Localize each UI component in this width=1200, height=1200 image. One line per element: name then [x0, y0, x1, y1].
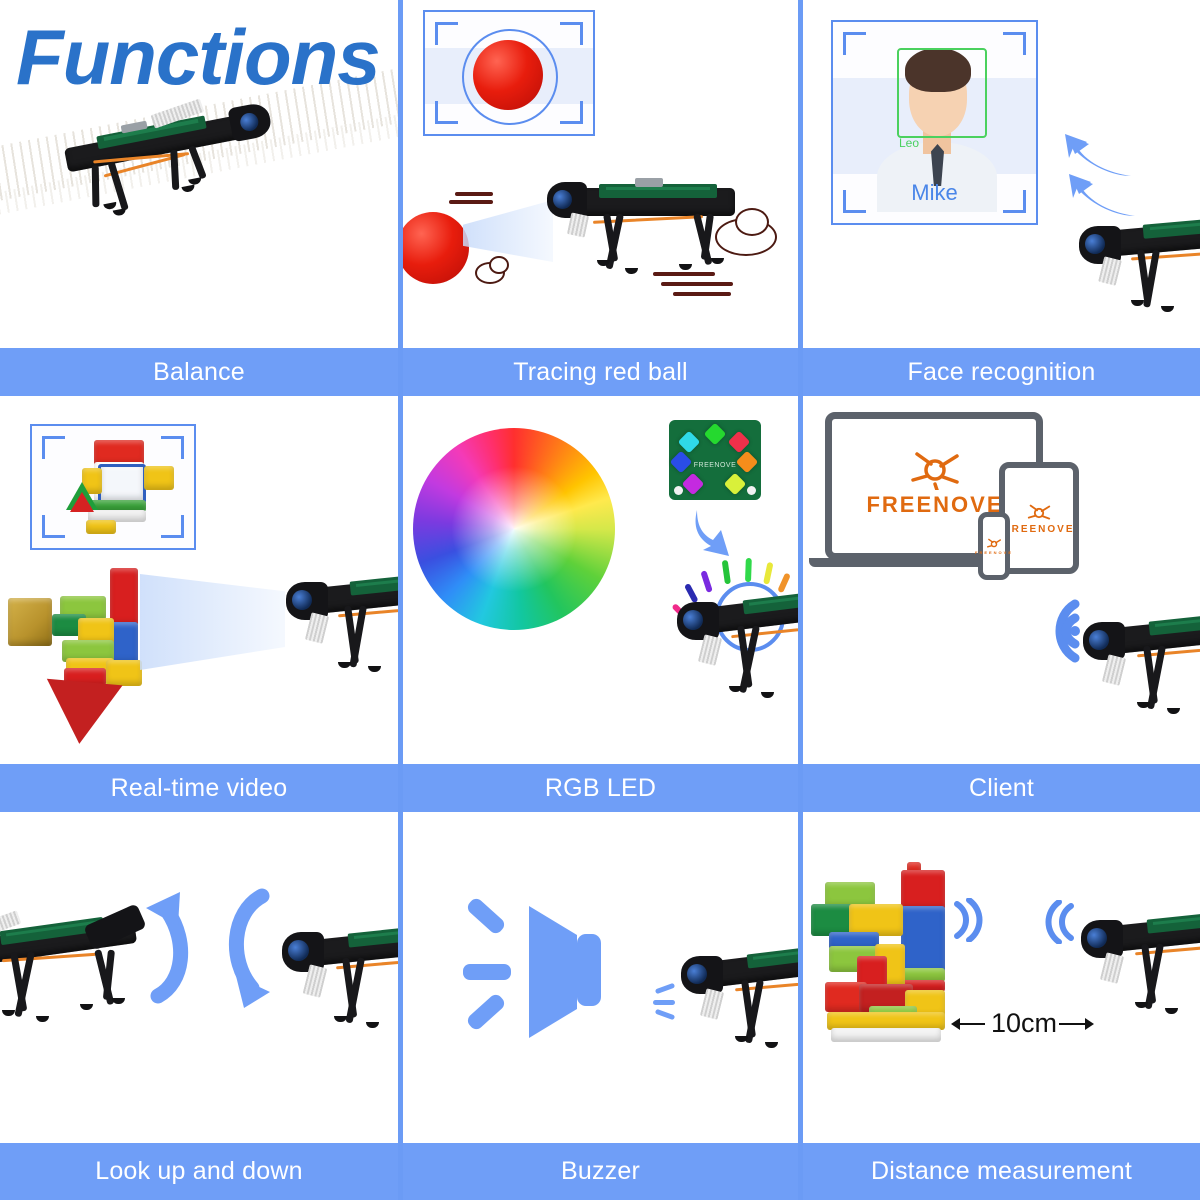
robot-leg [188, 145, 207, 179]
caption-label: Buzzer [561, 1159, 640, 1184]
led-red [728, 431, 751, 454]
robot-camera-eye [687, 964, 707, 984]
brick [901, 906, 945, 974]
frame-bracket-tl [435, 22, 458, 45]
tablet-brand-logo: FREENOVE [1007, 498, 1071, 540]
caption-face-recognition: Face recognition [803, 348, 1200, 396]
phone-brand-text: FREENOVE [975, 550, 1013, 555]
frame-bracket-br [560, 101, 583, 124]
board-mount-hole [747, 486, 756, 495]
freenove-mark-icon [986, 538, 1002, 550]
caption-label: Client [969, 776, 1034, 801]
tablet-brand-text: FREENOVE [1004, 524, 1075, 535]
brick-window [98, 464, 146, 504]
red-ball [403, 212, 469, 284]
robot-foot [2, 1010, 15, 1016]
robot-foot [1161, 306, 1174, 312]
robot-foot [113, 208, 127, 216]
face-detection-box [897, 48, 987, 138]
grid-divider-vertical [398, 0, 403, 1200]
robot-foot [334, 1016, 347, 1022]
robot-camera-eye [553, 190, 572, 209]
caption-balance: Balance [0, 348, 398, 396]
video-view-frame [30, 424, 196, 550]
sound-wave-line [463, 964, 511, 980]
brick [144, 466, 174, 490]
robot-dog [268, 572, 398, 697]
robot-foot [761, 692, 774, 698]
brick [110, 568, 138, 626]
robot-foot [80, 1004, 93, 1010]
board-mount-hole [674, 486, 683, 495]
grid-divider-vertical [798, 0, 803, 1200]
caption-distance-measurement: Distance measurement [803, 1143, 1200, 1200]
cell-buzzer [403, 816, 798, 1143]
distance-label: 10cm [991, 1008, 1057, 1039]
robot-foot [181, 185, 195, 193]
camera-view-frame [423, 10, 595, 136]
detected-name-label: Leo [899, 136, 919, 150]
sound-wave-line [465, 992, 507, 1032]
robot-camera-eye [1087, 928, 1107, 948]
robot-foot [103, 202, 117, 210]
frame-bracket-bl [42, 515, 65, 538]
brick [110, 622, 138, 664]
robot-dog [1065, 908, 1200, 1048]
board-brand-label: FREENOVE [669, 462, 761, 469]
measure-arrow-left [951, 1018, 960, 1030]
motion-streak [449, 200, 493, 204]
frame-bracket-br [161, 515, 184, 538]
robot-foot [368, 666, 381, 672]
robot-foot [366, 1022, 379, 1028]
led-green [704, 423, 727, 446]
led-light-ray [763, 562, 773, 585]
robot-foot [36, 1016, 49, 1022]
rgb-led-board: FREENOVE [669, 420, 761, 500]
pyramid-puzzle [70, 492, 94, 512]
tracked-red-ball [473, 40, 543, 110]
robot-foot [625, 268, 638, 274]
pyramid-puzzle [41, 679, 122, 747]
led-yellow [724, 473, 747, 496]
robot-leg [92, 165, 100, 207]
frame-bracket-tr [1003, 32, 1026, 55]
robot-foot [1167, 708, 1180, 714]
phone-brand-logo: FREENOVE [981, 534, 1007, 558]
robot-foot [679, 264, 692, 270]
cell-rgb-led: FREENOVE [403, 400, 798, 764]
caption-rgb-led: RGB LED [403, 764, 798, 812]
cell-client: FREENOVE FREENOVE FREENOVE [803, 400, 1200, 764]
brick [106, 660, 142, 686]
cell-look-up-and-down [0, 816, 398, 1143]
robot-foot [711, 258, 724, 264]
caption-label: Face recognition [907, 360, 1095, 385]
frame-bracket-tl [843, 32, 866, 55]
brick [901, 870, 945, 910]
caption-label: Balance [153, 360, 245, 385]
caption-label: RGB LED [545, 776, 656, 801]
led-cyan [678, 431, 701, 454]
robot-dog [665, 942, 798, 1082]
face-view-frame: Leo Mike [831, 20, 1038, 225]
robot-camera-eye [1089, 630, 1109, 650]
vision-cone [140, 574, 285, 670]
robot-foot [1131, 300, 1144, 306]
robot-dog [61, 97, 278, 243]
robot-foot [338, 662, 351, 668]
robot-foot [1165, 1008, 1178, 1014]
freenove-mark-icon [907, 450, 963, 490]
frame-bracket-tr [560, 22, 583, 45]
cell-face-recognition: Leo Mike [803, 0, 1200, 348]
led-magenta [682, 473, 705, 496]
robot-dog [1067, 610, 1200, 740]
motion-streak [455, 192, 493, 196]
robot-leg [103, 950, 115, 1000]
speaker-cone-icon [529, 906, 577, 1038]
speaker-body-icon [577, 934, 601, 1006]
robot-dog [543, 178, 743, 293]
robot-ribbon-cable [567, 212, 589, 237]
robot-foot [765, 1042, 778, 1048]
caption-label: Look up and down [95, 1159, 303, 1184]
look-up-arrow-icon [122, 886, 194, 1006]
robot-camera-eye [292, 590, 312, 610]
caption-label: Real-time video [111, 776, 288, 801]
caption-label: Tracing red ball [513, 360, 688, 385]
caption-buzzer: Buzzer [403, 1143, 798, 1200]
caption-real-time-video: Real-time video [0, 764, 398, 812]
caption-look-up-and-down: Look up and down [0, 1143, 398, 1200]
page-title: Functions [16, 12, 380, 103]
caption-label: Distance measurement [871, 1159, 1132, 1184]
brick [86, 520, 116, 534]
robot-dog [1061, 216, 1200, 336]
frame-bracket-br [1003, 190, 1026, 213]
robot-dog [268, 918, 398, 1058]
sound-wave-line [465, 896, 507, 936]
laptop-brand-logo: FREENOVE [865, 448, 1005, 520]
cell-real-time-video [0, 400, 398, 764]
recognition-arrow-icon [1069, 168, 1139, 220]
cell-tracing-red-ball [403, 0, 798, 348]
caption-client: Client [803, 764, 1200, 812]
measure-line-left [957, 1023, 985, 1025]
color-wheel-icon [413, 428, 615, 630]
robot-dog [663, 588, 798, 728]
led-light-ray [722, 560, 731, 585]
cell-distance-measurement: 10cm [803, 816, 1200, 1143]
vision-cone [463, 200, 553, 262]
led-light-ray [745, 558, 752, 582]
robot-camera-eye [683, 610, 703, 630]
robot-camera-eye [288, 940, 309, 961]
robot-chip [635, 178, 663, 187]
robot-camera-eye [1085, 234, 1105, 254]
frame-bracket-bl [435, 101, 458, 124]
frame-bracket-tl [42, 436, 65, 459]
caption-tracing-red-ball: Tracing red ball [403, 348, 798, 396]
apply-arrow-icon [691, 508, 735, 560]
freenove-mark-icon [1026, 503, 1052, 523]
frame-bracket-bl [843, 190, 866, 213]
gold-cube [8, 598, 52, 646]
ultrasonic-wave-icon [951, 898, 983, 942]
frame-bracket-tr [161, 436, 184, 459]
dust-puff [489, 256, 509, 274]
functions-poster: Leo Mike [0, 0, 1200, 1200]
brick [831, 1028, 941, 1042]
